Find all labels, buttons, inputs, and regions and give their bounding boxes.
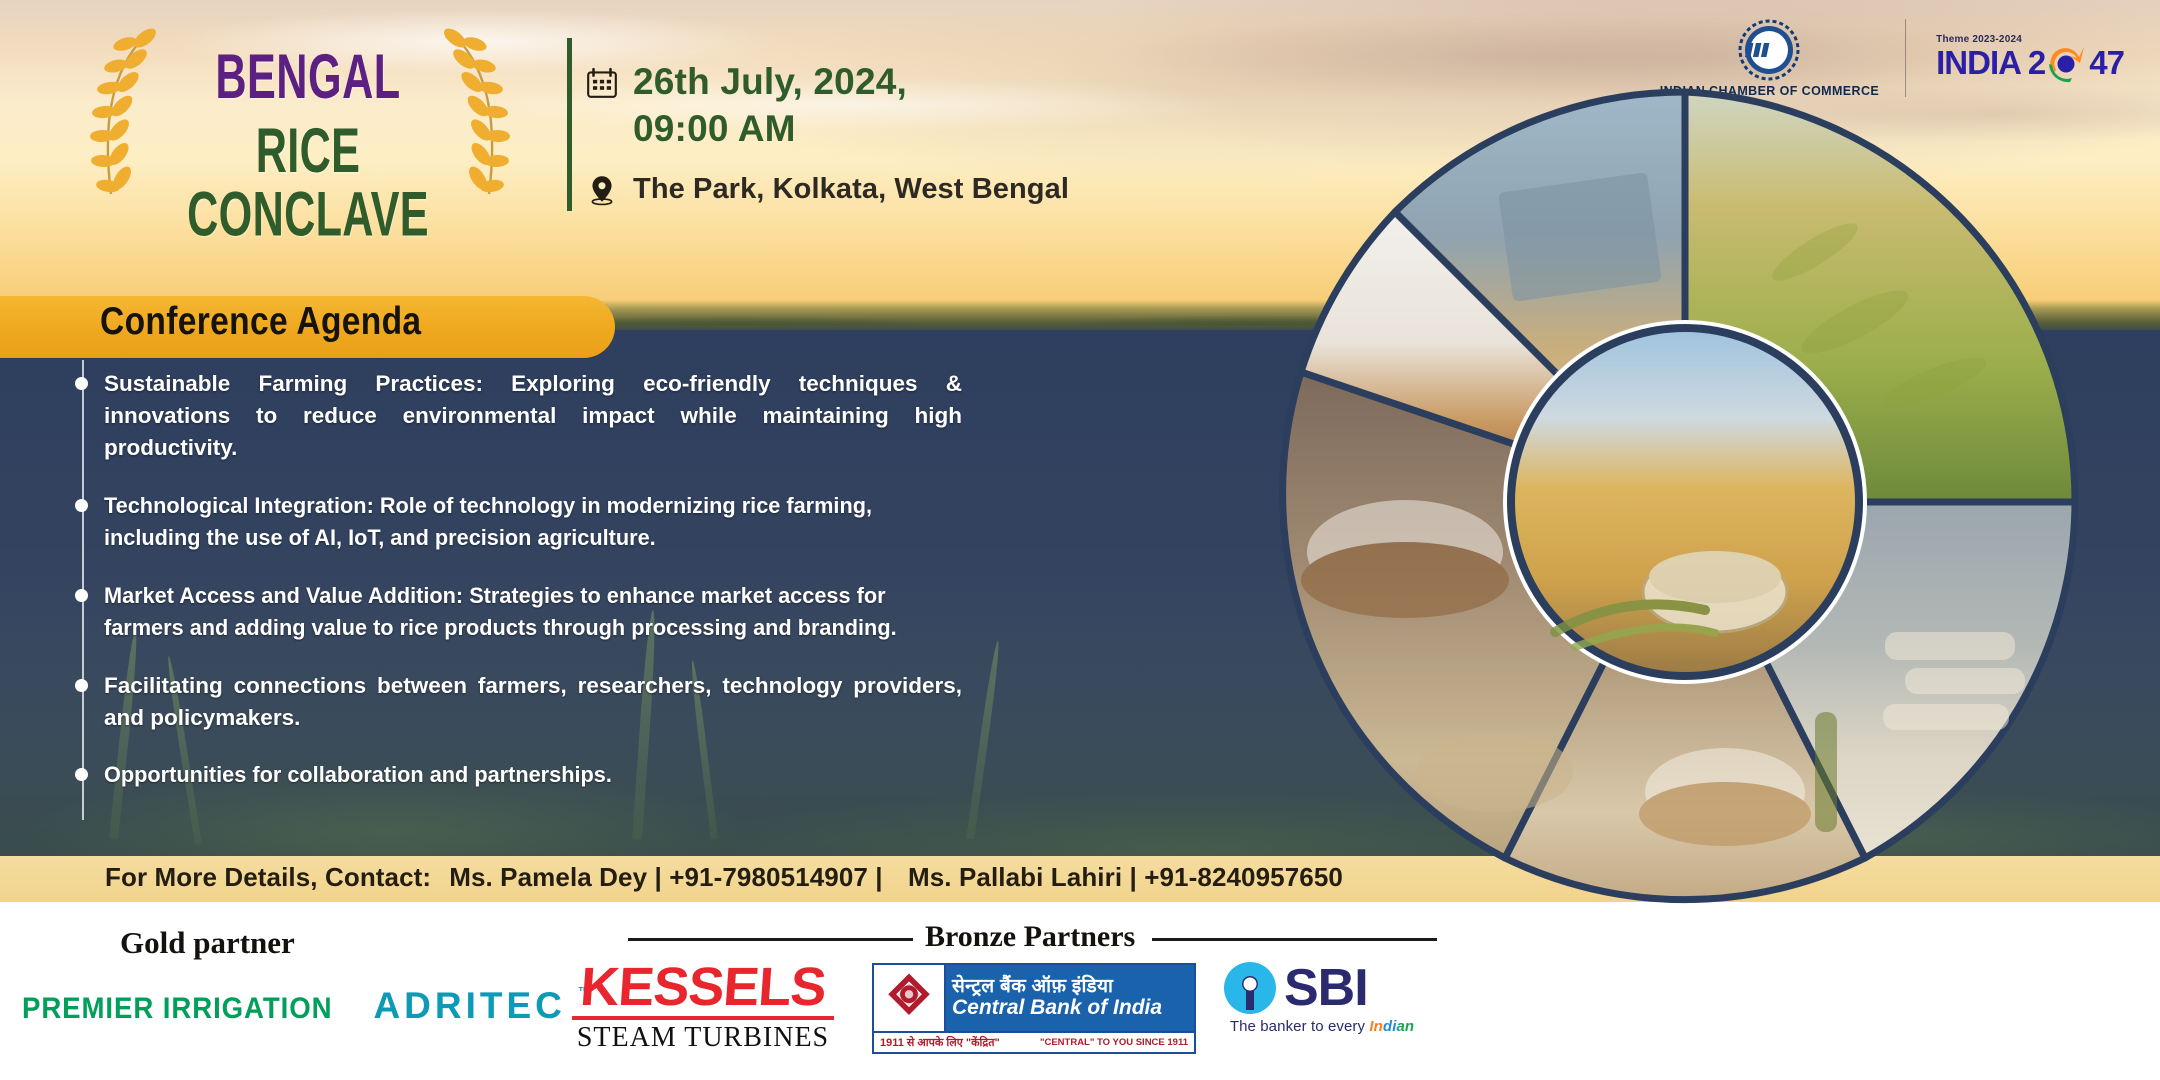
contact-prefix: For More Details, Contact: xyxy=(105,862,431,892)
central-bank-name-hindi: सेन्ट्रल बैंक ऑफ़ इंडिया xyxy=(952,977,1188,997)
rice-photo-collage xyxy=(1255,72,2115,932)
logo-title-line2: RICE CONCLAVE xyxy=(184,118,432,245)
agenda-item-text: Sustainable Farming Practices: Exploring… xyxy=(104,368,962,464)
header-divider xyxy=(567,38,572,211)
contact-person-1-name: Ms. Pamela Dey xyxy=(449,862,647,892)
agenda-item-text: Market Access and Value Addition: Strate… xyxy=(104,580,932,644)
event-poster: BENGAL RICE CONCLAVE 26th July, 2024, 09… xyxy=(0,0,2160,1080)
bullet-dot-icon xyxy=(75,679,88,692)
event-date: 26th July, 2024, xyxy=(633,58,907,105)
agenda-item: Opportunities for collaboration and part… xyxy=(82,759,962,791)
agenda-list: Sustainable Farming Practices: Exploring… xyxy=(82,368,962,817)
agenda-item: Market Access and Value Addition: Strate… xyxy=(82,580,962,644)
central-bank-tagline-hindi: 1911 से आपके लिए "केंद्रित" xyxy=(880,1035,1000,1050)
sbi-tagline: The banker to every xyxy=(1230,1018,1370,1035)
logo-title-line1: BENGAL xyxy=(184,44,432,107)
agenda-item: Technological Integration: Role of techn… xyxy=(82,490,962,554)
sponsor-sbi-logo: SBI The banker to every Indian xyxy=(1222,960,1422,1035)
footer-rule-right xyxy=(1152,938,1437,941)
bullet-dot-icon xyxy=(75,768,88,781)
central-bank-name-english: Central Bank of India xyxy=(952,997,1188,1019)
event-meta: 26th July, 2024, 09:00 AM The Park, Kolk… xyxy=(585,58,1285,207)
sponsor-central-bank-logo: सेन्ट्रल बैंक ऑफ़ इंडिया Central Bank of … xyxy=(872,963,1196,1054)
location-pin-icon xyxy=(585,173,619,207)
kessels-subtitle: STEAM TURBINES xyxy=(568,1022,838,1054)
sbi-tagline-accent: Indian xyxy=(1369,1018,1414,1035)
sponsor-kessels-logo: KESSELS STEAM TURBINES xyxy=(568,962,838,1054)
bullet-dot-icon xyxy=(75,499,88,512)
event-logo: BENGAL RICE CONCLAVE xyxy=(85,22,515,202)
contact-line: For More Details, Contact:Ms. Pamela Dey… xyxy=(105,862,1343,893)
sbi-wordmark: SBI xyxy=(1284,962,1368,1014)
venue-row: The Park, Kolkata, West Bengal xyxy=(585,173,1285,207)
contact-separator: | xyxy=(875,862,882,892)
event-venue: The Park, Kolkata, West Bengal xyxy=(633,173,1069,206)
bronze-partners-label: Bronze Partners xyxy=(925,920,1135,954)
wheat-wreath-right-icon xyxy=(435,22,515,202)
premier-irrigation-wordmark: PREMIER IRRIGATION xyxy=(22,992,332,1026)
gold-partner-label: Gold partner xyxy=(120,925,295,961)
agenda-heading: Conference Agenda xyxy=(100,300,421,344)
sbi-keyhole-icon xyxy=(1222,960,1278,1016)
central-bank-tagline-english: "CENTRAL" TO YOU SINCE 1911 xyxy=(1040,1037,1188,1048)
event-time: 09:00 AM xyxy=(633,105,907,152)
adritec-wordmark: ADRITEC xyxy=(373,985,565,1027)
agenda-item-text: Opportunities for collaboration and part… xyxy=(104,759,932,791)
bullet-dot-icon xyxy=(75,589,88,602)
kessels-wordmark: KESSELS xyxy=(566,962,840,1013)
agenda-item: Facilitating connections between farmers… xyxy=(82,670,962,734)
agenda-item: Sustainable Farming Practices: Exploring… xyxy=(82,368,962,464)
agenda-item-text: Facilitating connections between farmers… xyxy=(104,670,962,734)
date-row: 26th July, 2024, 09:00 AM xyxy=(585,58,1285,153)
wheat-wreath-left-icon xyxy=(85,22,165,202)
contact-separator: | xyxy=(1130,862,1137,892)
sponsor-premier-irrigation-logo: PREMIER IRRIGATION ADRITEC ™ xyxy=(22,985,593,1027)
contact-separator: | xyxy=(654,862,661,892)
central-bank-emblem-icon xyxy=(874,965,946,1031)
footer-rule-left xyxy=(628,938,913,941)
bullet-dot-icon xyxy=(75,377,88,390)
agenda-item-text: Technological Integration: Role of techn… xyxy=(104,490,932,554)
calendar-icon xyxy=(585,66,619,100)
contact-person-2-name: Ms. Pallabi Lahiri xyxy=(908,862,1122,892)
contact-person-1-phone[interactable]: +91-7980514907 xyxy=(669,862,868,892)
